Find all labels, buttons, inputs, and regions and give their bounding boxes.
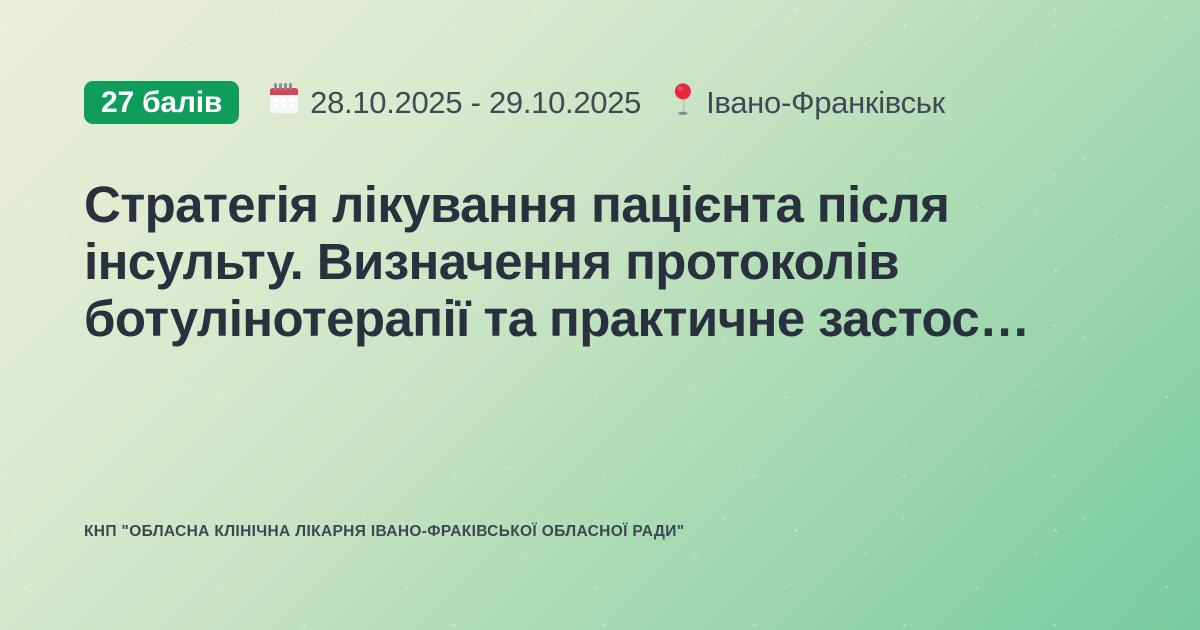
- organization-name: КНП "ОБЛАСНА КЛІНІЧНА ЛІКАРНЯ ІВАНО-ФРАК…: [84, 523, 684, 541]
- points-badge: 27 балів: [84, 81, 239, 124]
- event-card: 27 балів: [0, 0, 1200, 630]
- calendar-icon: [269, 83, 299, 123]
- map-pin-icon: [671, 83, 695, 123]
- event-location-text: Івано-Франківськ: [706, 85, 945, 121]
- event-date-text: 28.10.2025 - 29.10.2025: [310, 85, 641, 121]
- event-date: 28.10.2025 - 29.10.2025: [269, 83, 641, 123]
- event-title: Стратегія лікування пацієнта після інсул…: [84, 176, 1116, 347]
- event-location: Івано-Франківськ: [671, 83, 945, 123]
- event-meta-row: 27 балів: [84, 81, 1116, 124]
